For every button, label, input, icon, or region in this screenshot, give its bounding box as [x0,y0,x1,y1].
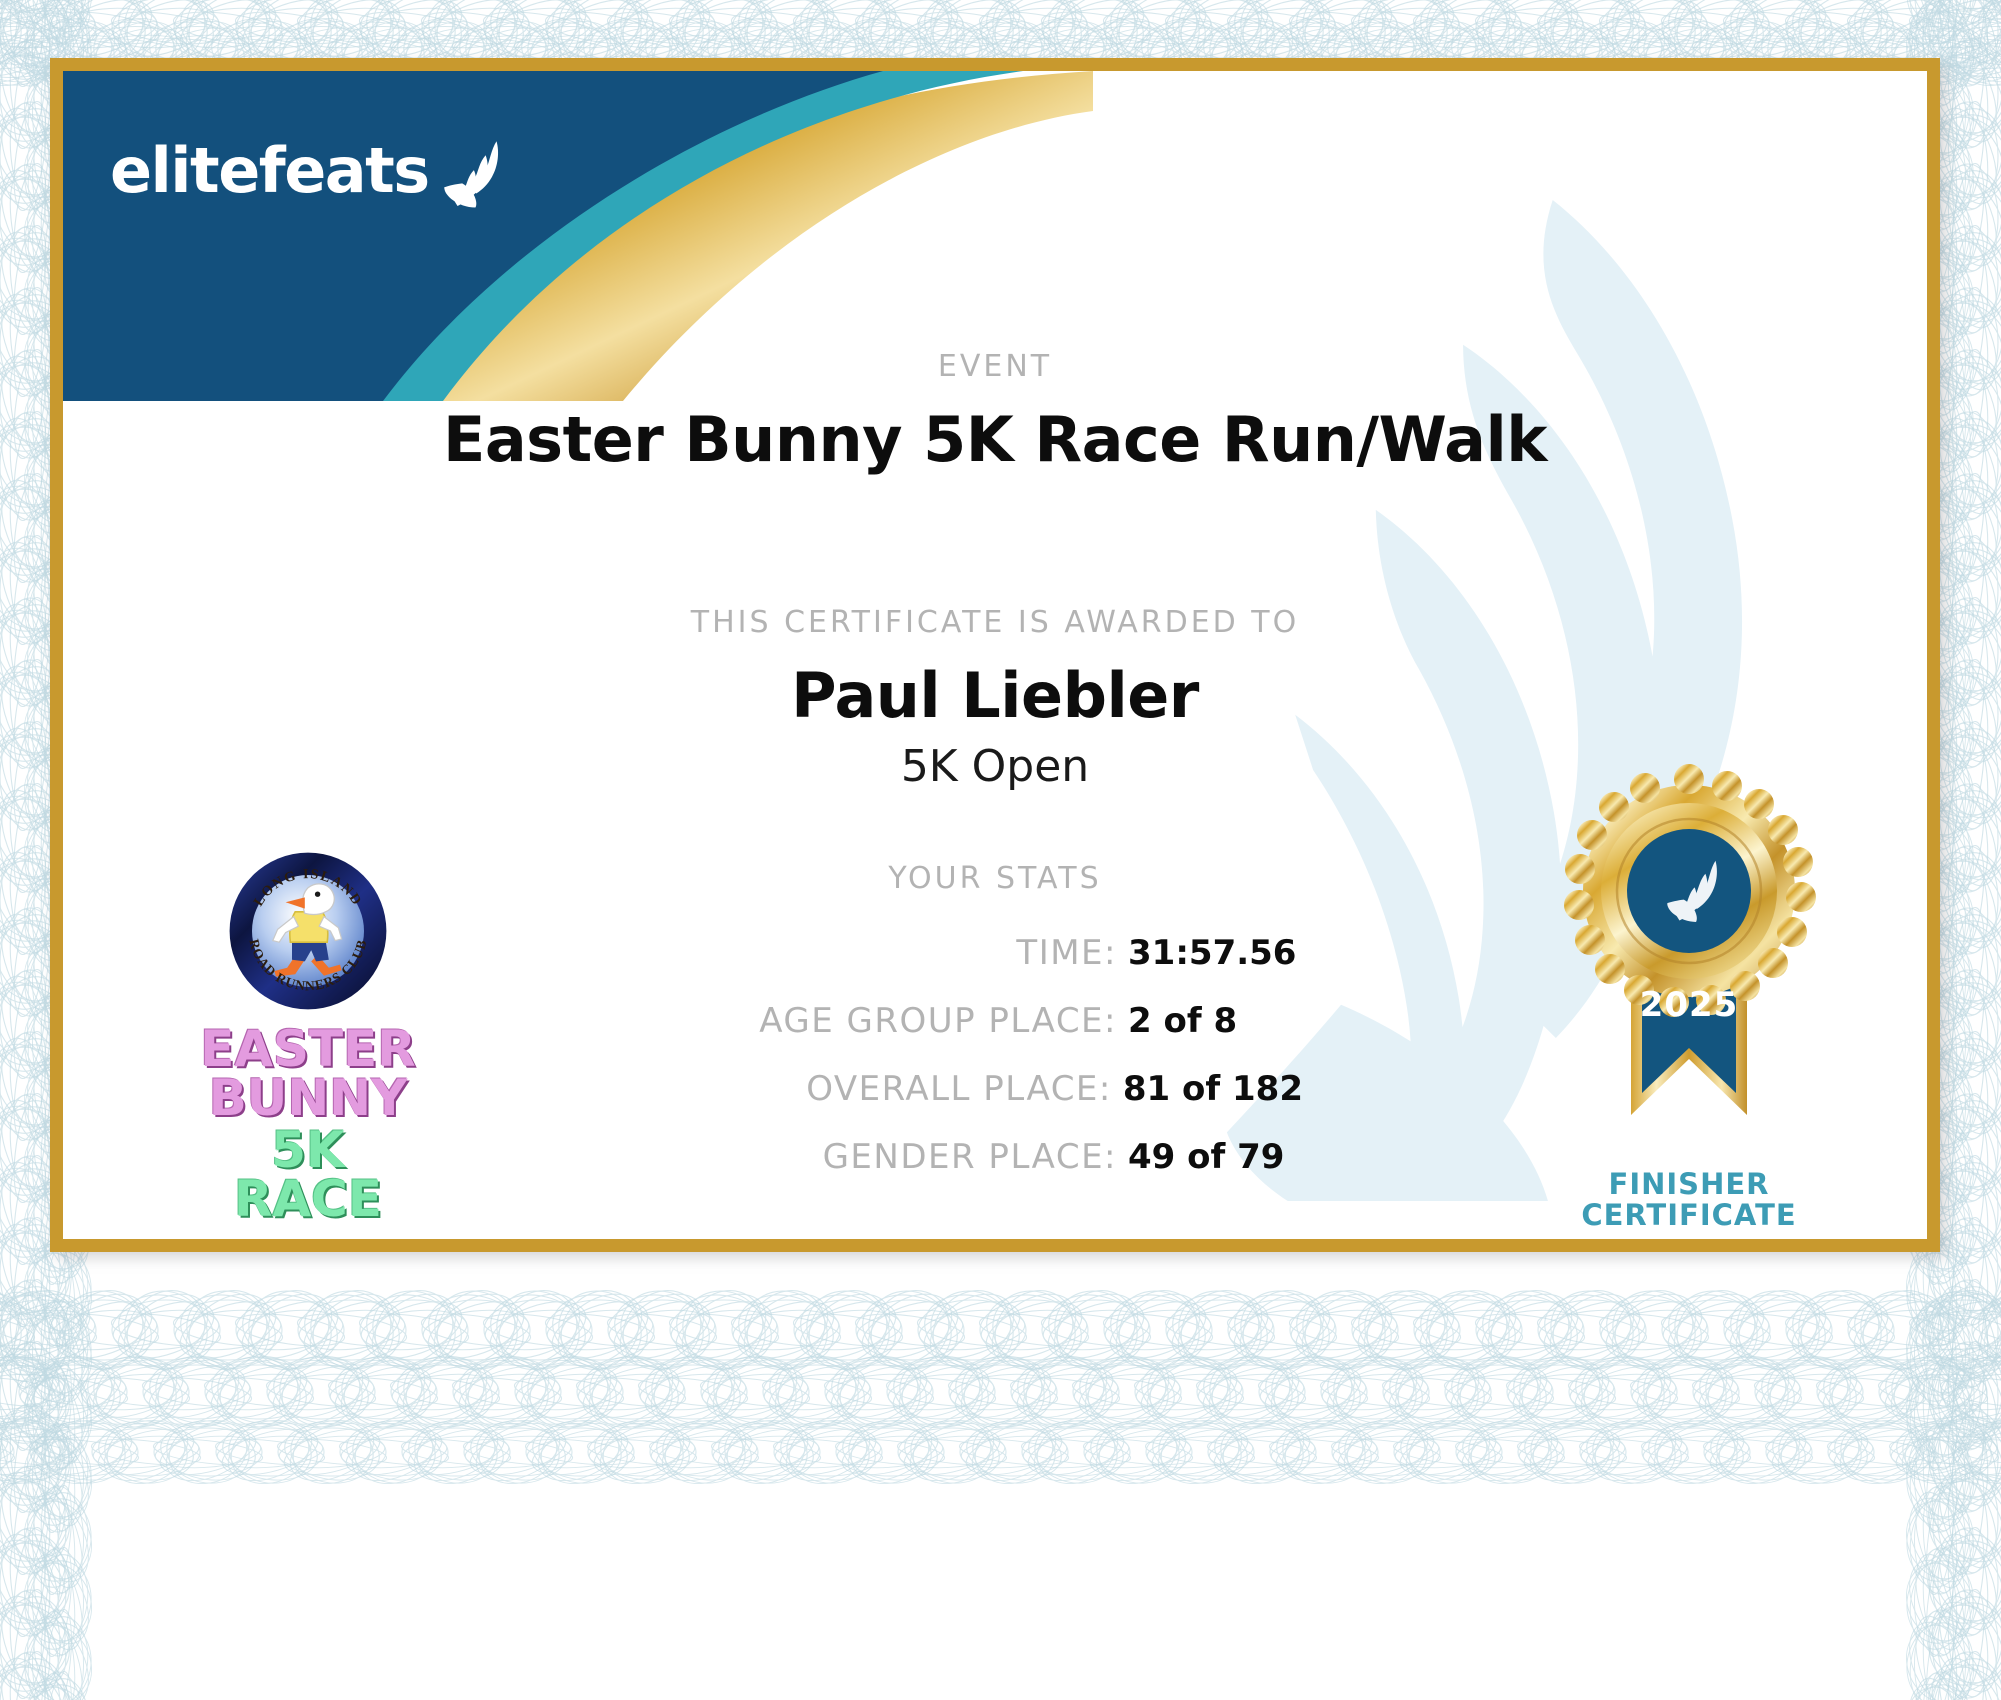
medal-caption-line-1: FINISHER [1559,1169,1819,1200]
stat-value: 31:57.56 [1128,933,1303,973]
stat-row-overall-place: OVERALL PLACE: 81 of 182 [393,1069,1303,1113]
medal-caption-line-2: CERTIFICATE [1559,1200,1819,1231]
stats-table: TIME: 31:57.56 AGE GROUP PLACE: 2 of 8 O… [393,933,1303,1205]
medal-year: 2025 [1640,985,1739,1025]
stat-row-time: TIME: 31:57.56 [393,933,1303,977]
long-island-road-runners-club-badge-icon: LONG ISLAND ROAD RUNNERS CLUB [228,851,388,1011]
certificate-page: elitefeats EVENT Easter Bunny 5K Race Ru… [0,0,2001,1700]
awarded-to-label: THIS CERTIFICATE IS AWARDED TO [63,605,1927,640]
certificate-inner: elitefeats EVENT Easter Bunny 5K Race Ru… [63,71,1927,1239]
race-title-line-3: 5K RACE [193,1126,423,1223]
finisher-medal-icon: 2025 [1559,763,1819,1163]
race-title-line-1: EASTER [193,1025,423,1074]
race-logo: LONG ISLAND ROAD RUNNERS CLUB EASTER BUN… [193,851,423,1223]
stat-row-gender-place: GENDER PLACE: 49 of 79 [393,1137,1303,1181]
certificate-card: elitefeats EVENT Easter Bunny 5K Race Ru… [50,58,1940,1252]
event-label: EVENT [63,349,1927,384]
stat-value: 81 of 182 [1123,1069,1303,1109]
stat-row-age-group-place: AGE GROUP PLACE: 2 of 8 [393,1001,1303,1045]
stat-key: OVERALL PLACE: [806,1069,1112,1109]
race-title-line-2: BUNNY [193,1074,423,1123]
stat-value: 2 of 8 [1128,1001,1303,1041]
stat-key: TIME: [1016,933,1117,973]
stat-key: GENDER PLACE: [823,1137,1117,1177]
finisher-medal: 2025 FINISHER CERTIFICATE [1559,763,1819,1232]
stat-value: 49 of 79 [1128,1137,1303,1177]
medal-caption: FINISHER CERTIFICATE [1559,1169,1819,1232]
recipient-name: Paul Liebler [63,659,1927,732]
stat-key: AGE GROUP PLACE: [759,1001,1117,1041]
event-title: Easter Bunny 5K Race Run/Walk [63,403,1927,476]
